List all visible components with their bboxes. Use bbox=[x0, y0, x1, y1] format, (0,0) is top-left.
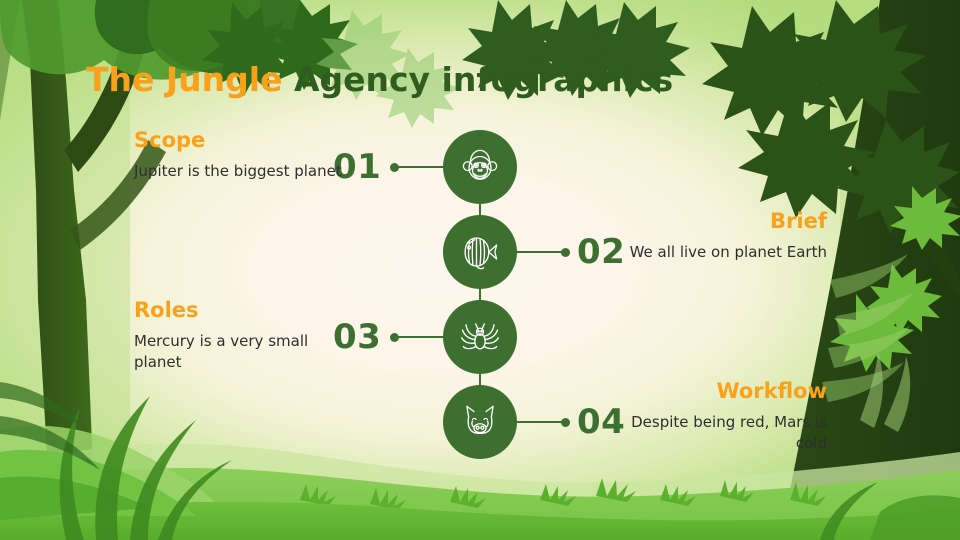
connector-dot-3 bbox=[390, 333, 399, 342]
body-scope: Jupiter is the biggest planet bbox=[134, 161, 344, 182]
body-workflow: Despite being red, Mars is cold bbox=[617, 412, 827, 455]
text-block-2: Brief We all live on planet Earth bbox=[617, 210, 827, 263]
text-block-1: Scope Jupiter is the biggest planet bbox=[134, 129, 344, 182]
timeline-node-1[interactable] bbox=[443, 130, 517, 204]
heading-scope: Scope bbox=[134, 129, 344, 152]
text-block-3: Roles Mercury is a very small planet bbox=[134, 299, 344, 374]
heading-brief: Brief bbox=[617, 210, 827, 233]
slide-canvas: The Jungle Agency infographics bbox=[0, 0, 960, 540]
boar-icon bbox=[459, 401, 501, 443]
timeline-node-3[interactable] bbox=[443, 300, 517, 374]
body-roles: Mercury is a very small planet bbox=[134, 331, 344, 374]
infographic-timeline: 01 02 03 04 Scope Jupiter is the biggest… bbox=[0, 0, 960, 540]
connector-horizontal-2 bbox=[516, 251, 564, 253]
connector-dot-4 bbox=[561, 418, 570, 427]
connector-dot-1 bbox=[390, 163, 399, 172]
fish-icon bbox=[459, 231, 501, 273]
connector-dot-2 bbox=[561, 248, 570, 257]
connector-horizontal-1 bbox=[396, 166, 444, 168]
body-brief: We all live on planet Earth bbox=[617, 242, 827, 263]
spider-icon bbox=[459, 316, 501, 358]
heading-workflow: Workflow bbox=[617, 380, 827, 403]
text-block-4: Workflow Despite being red, Mars is cold bbox=[617, 380, 827, 455]
heading-roles: Roles bbox=[134, 299, 344, 322]
connector-horizontal-3 bbox=[396, 336, 444, 338]
connector-horizontal-4 bbox=[516, 421, 564, 423]
timeline-node-2[interactable] bbox=[443, 215, 517, 289]
monkey-icon bbox=[459, 146, 501, 188]
timeline-node-4[interactable] bbox=[443, 385, 517, 459]
